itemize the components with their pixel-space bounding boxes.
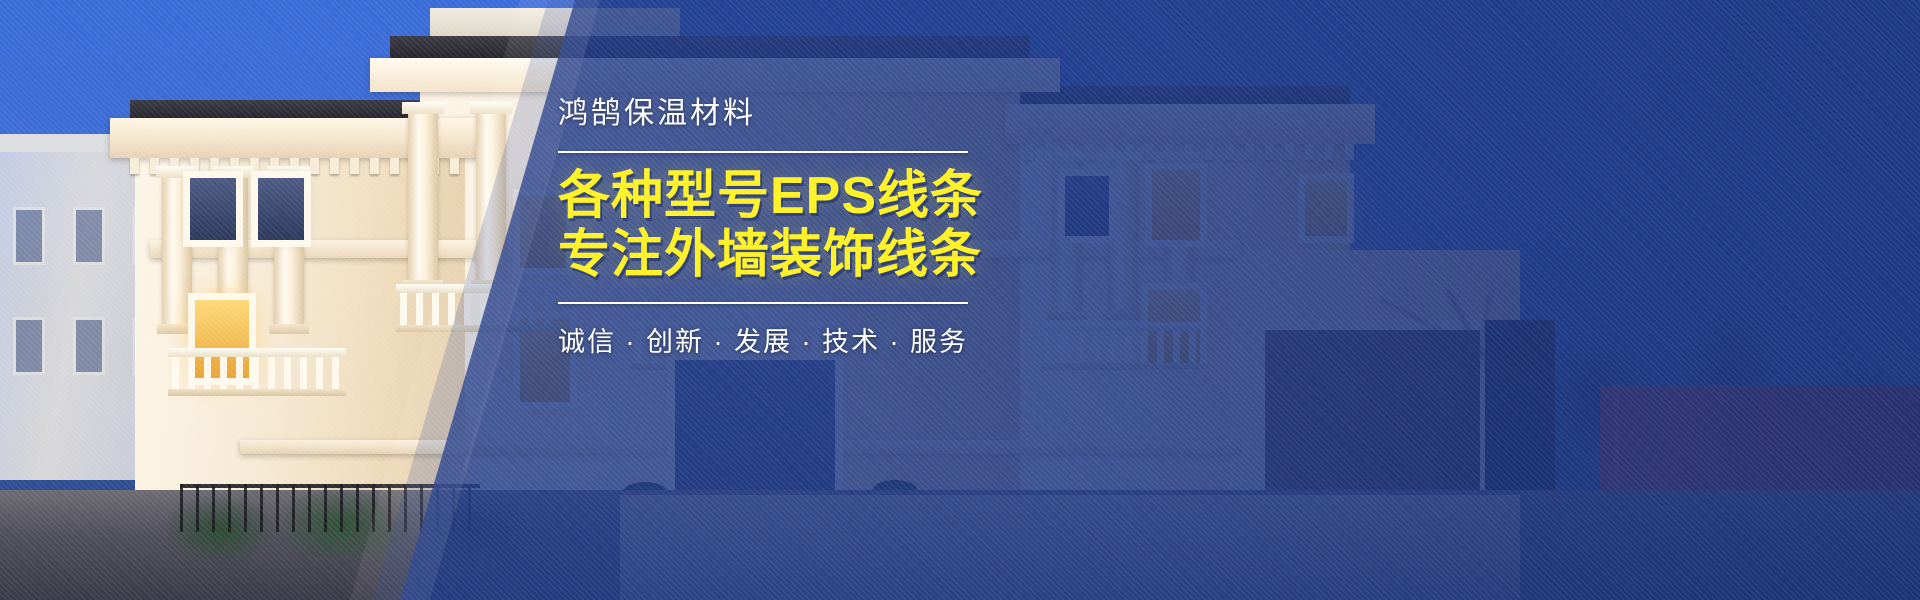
brand-name: 鸿鹄保温材料 [558,96,1028,132]
window [1065,176,1109,236]
column [162,176,192,326]
divider-bottom [558,302,968,304]
window-lit [1305,180,1347,236]
banner-copy: 鸿鹄保温材料 各种型号EPS线条 专注外墙装饰线条 诚信 · 创新 · 发展 ·… [558,96,1028,359]
iron-railing [180,484,480,532]
headline-line-2: 专注外墙装饰线条 [558,226,1028,285]
divider-top [558,151,968,153]
balustrade [1045,330,1205,364]
cornice-main [370,58,1060,92]
bare-branches [1380,290,1590,410]
window [258,178,304,240]
driveway [620,495,1520,600]
column [1108,162,1138,312]
roof-top-box [430,8,680,38]
balustrade [172,356,342,390]
window [190,178,236,240]
cornice-right [1005,104,1375,144]
balustrade [400,292,560,326]
window-lit [1152,170,1200,240]
headline-line-1: 各种型号EPS线条 [558,167,1028,226]
tagline: 诚信 · 创新 · 发展 · 技术 · 服务 [558,320,1028,359]
hero-banner: 鸿鹄保温材料 各种型号EPS线条 专注外墙装饰线条 诚信 · 创新 · 发展 ·… [0,0,1920,600]
